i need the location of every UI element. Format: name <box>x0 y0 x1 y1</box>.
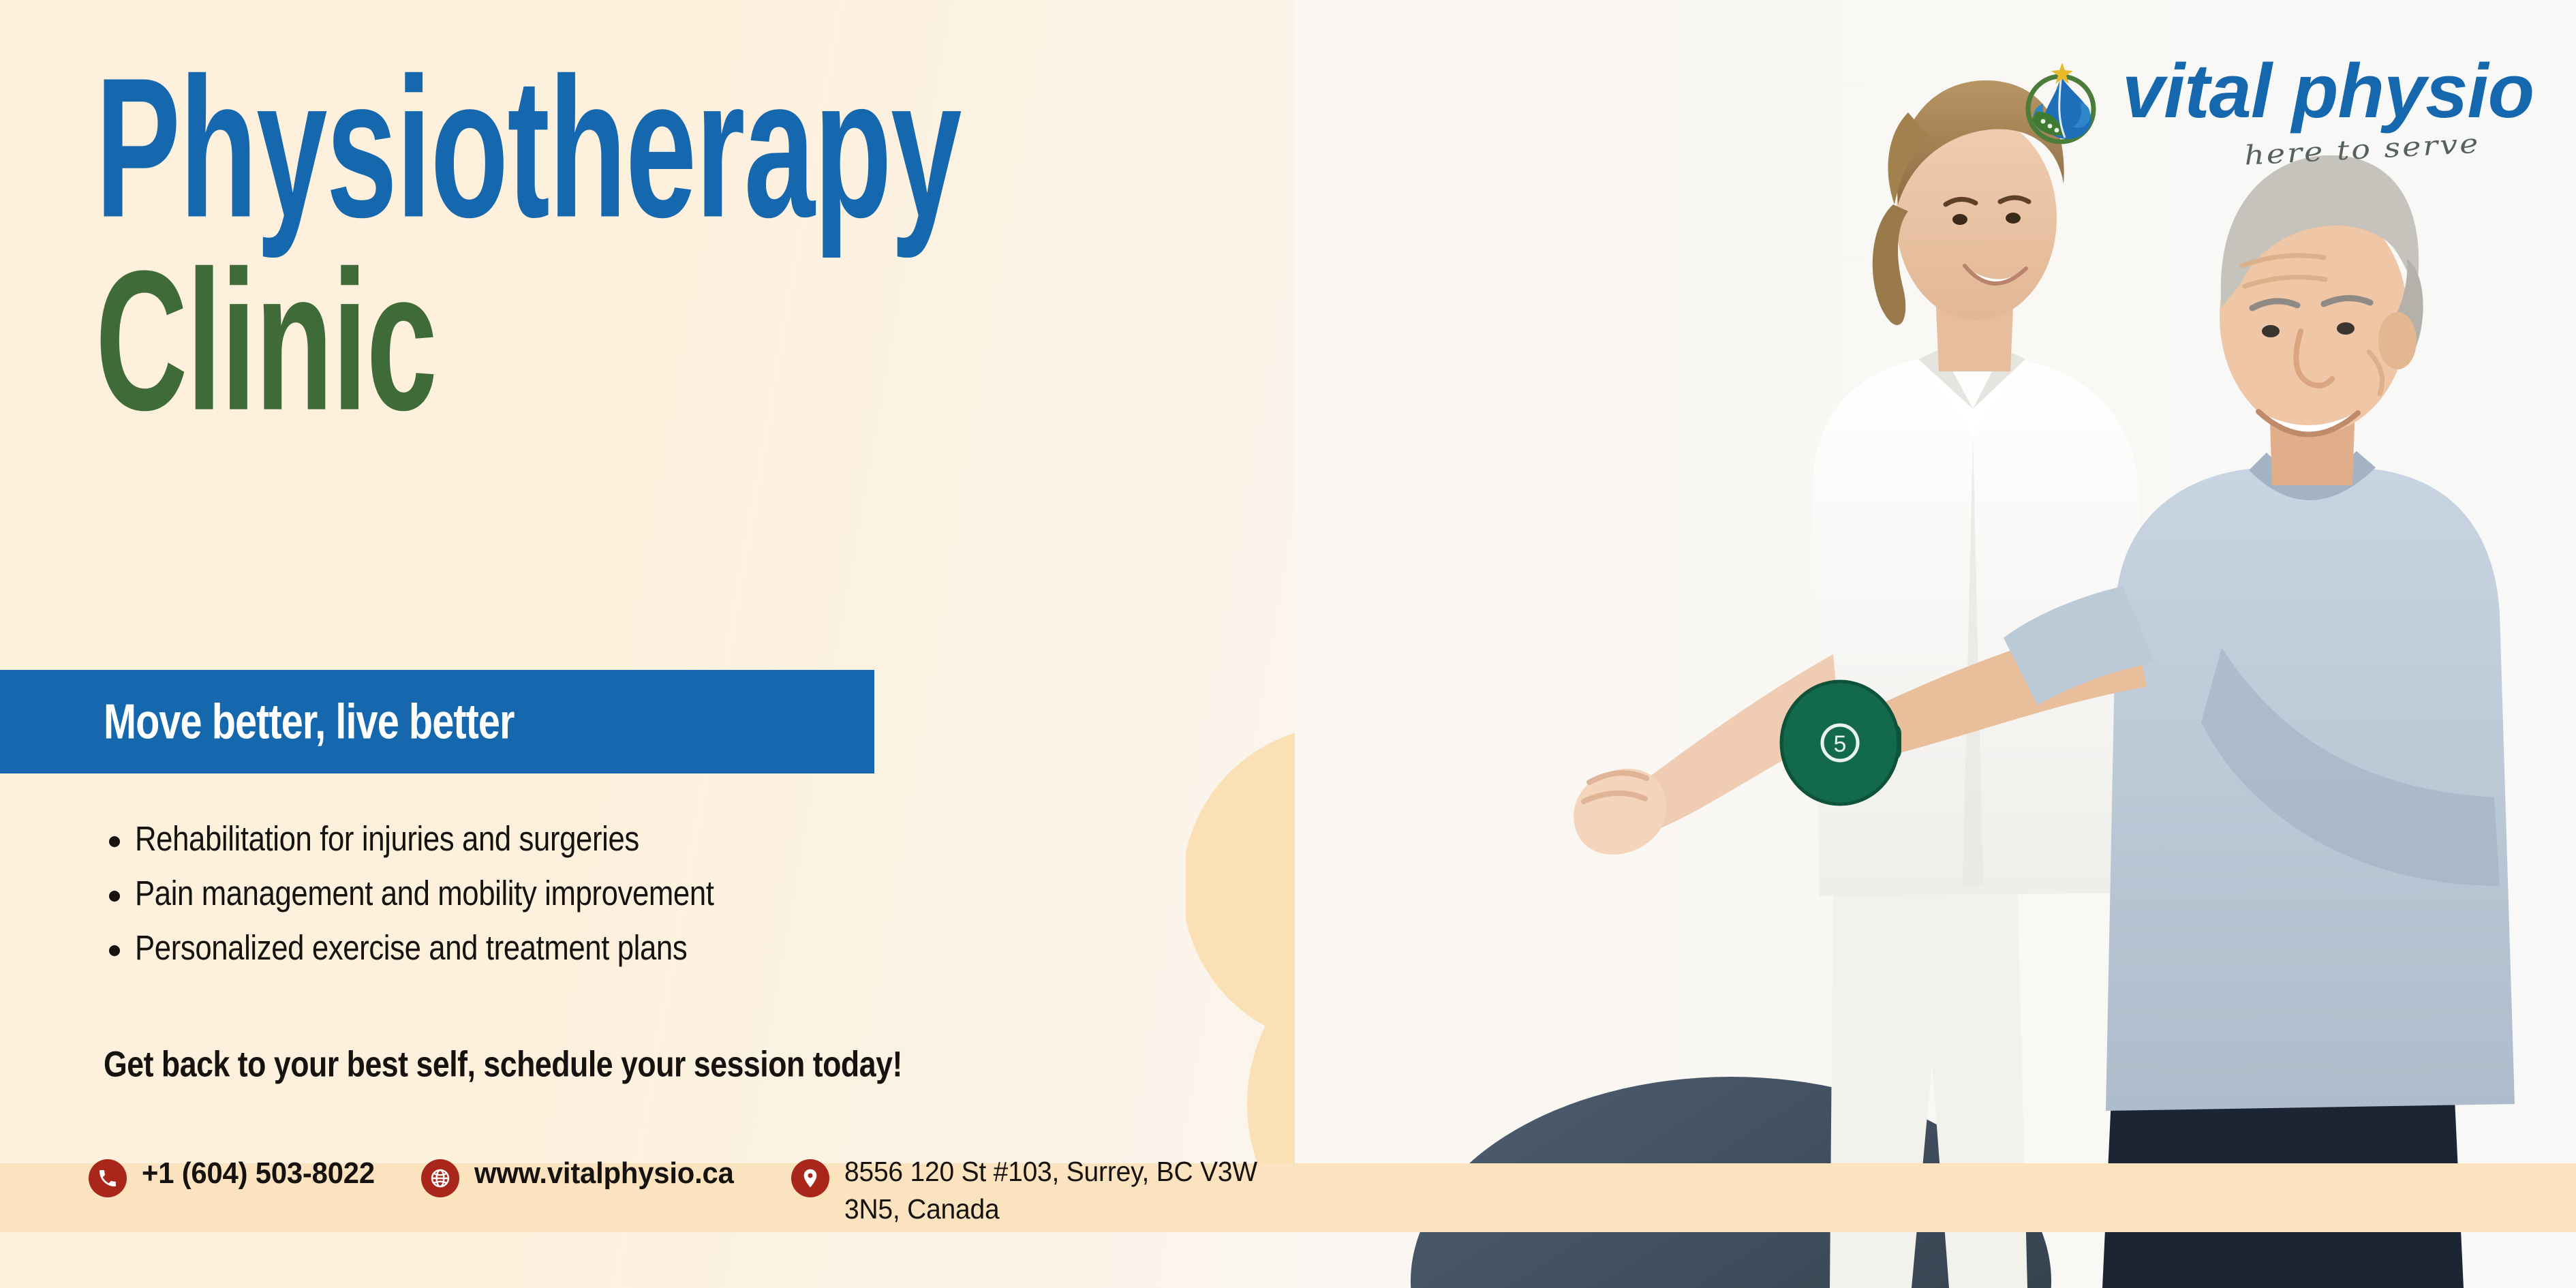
page-title: Physiotherapy Clinic <box>95 65 1254 382</box>
location-pin-icon <box>791 1159 829 1197</box>
bullet-dot-icon <box>109 945 120 956</box>
phone-number: +1 (604) 503-8022 <box>142 1153 375 1193</box>
bullet-dot-icon <box>109 836 120 847</box>
svg-text:5: 5 <box>1834 731 1847 757</box>
logo-wordmark: vital physio here to serve <box>2122 53 2534 168</box>
tagline-banner: Move better, live better <box>0 670 874 773</box>
headline-line-2: Clinic <box>95 258 1092 425</box>
list-item-label: Pain management and mobility improvement <box>135 876 714 910</box>
services-list: Rehabilitation for injuries and surgerie… <box>109 821 1131 985</box>
list-item: Personalized exercise and treatment plan… <box>109 930 1131 962</box>
contact-website[interactable]: www.vitalphysio.ca <box>421 1153 748 1197</box>
left-content-column: Physiotherapy Clinic Move better, live b… <box>0 0 1295 1288</box>
list-item-label: Rehabilitation for injuries and surgerie… <box>135 821 639 856</box>
globe-icon <box>421 1159 459 1197</box>
contact-bar: +1 (604) 503-8022 www.vitalphysio.ca <box>0 1153 2576 1288</box>
tagline-text: Move better, live better <box>104 694 515 750</box>
list-item: Rehabilitation for injuries and surgerie… <box>109 821 1131 853</box>
address-text: 8556 120 St #103, Surrey, BC V3W 3N5, Ca… <box>844 1153 1310 1229</box>
brand-logo[interactable]: vital physio here to serve <box>2016 53 2534 168</box>
bullet-dot-icon <box>109 891 120 902</box>
headline-line-1: Physiotherapy <box>95 65 1092 232</box>
physiotherapy-clinic-banner: 5 Physiotherapy Clinic <box>0 0 2576 1288</box>
clinic-photo: 5 <box>1295 0 2576 1288</box>
logo-tagline: here to serve <box>2244 127 2481 171</box>
vital-physio-emblem-icon <box>2016 59 2106 149</box>
call-to-action-text: Get back to your best self, schedule you… <box>104 1043 902 1085</box>
logo-name: vital physio <box>2122 53 2534 129</box>
dumbbell: 5 <box>1781 681 1901 804</box>
list-item-label: Personalized exercise and treatment plan… <box>135 930 687 965</box>
phone-icon <box>89 1159 127 1197</box>
website-url: www.vitalphysio.ca <box>474 1153 734 1193</box>
contact-address[interactable]: 8556 120 St #103, Surrey, BC V3W 3N5, Ca… <box>791 1153 1335 1229</box>
contact-phone[interactable]: +1 (604) 503-8022 <box>89 1153 387 1197</box>
list-item: Pain management and mobility improvement <box>109 876 1131 907</box>
